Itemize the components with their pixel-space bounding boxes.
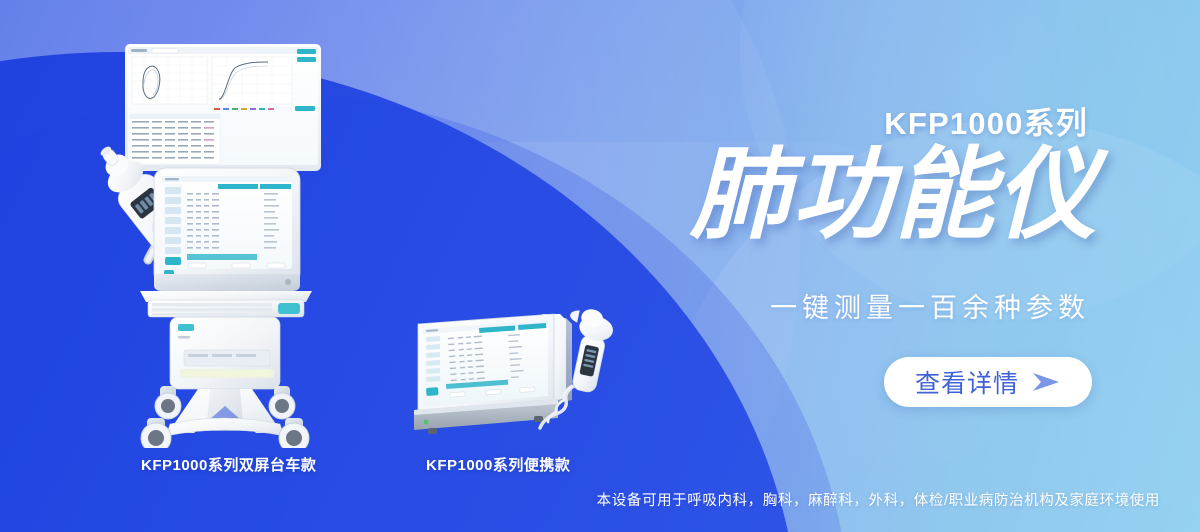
arrow-right-icon [1031, 370, 1061, 394]
cart-keyboard-tray [140, 291, 312, 317]
cart-caster [141, 418, 171, 448]
view-details-button[interactable]: 查看详情 [884, 357, 1092, 407]
product-image-portable [396, 300, 636, 446]
product-series-label: KFP1000系列 [884, 98, 1088, 143]
view-details-label: 查看详情 [915, 364, 1019, 400]
product-banner: KFP1000系列双屏台车款 KFP1000系列便携款 KFP1000系列 肺功… [0, 0, 1200, 532]
cart-console [154, 168, 300, 291]
cart-caster [269, 386, 295, 419]
banner-subtitle: 一键测量一百余种参数 [770, 286, 1090, 325]
product-caption-portable: KFP1000系列便携款 [426, 454, 570, 475]
product-caption-cart: KFP1000系列双屏台车款 [141, 454, 316, 475]
usage-disclaimer: 本设备可用于呼吸内科，胸科，麻醉科，外科，体检/职业病防治机构及家庭环境使用 [0, 489, 1160, 510]
banner-copy-column: KFP1000系列 肺功能仪 一键测量一百余种参数 查看详情 [640, 0, 1200, 532]
cart-body [170, 317, 280, 389]
page-title: 肺功能仪 [690, 140, 1098, 250]
cart-caster [279, 418, 309, 448]
product-image-cart [92, 38, 342, 448]
cart-caster [155, 386, 181, 419]
portable-screen-body [418, 314, 554, 416]
cart-base [141, 386, 309, 448]
